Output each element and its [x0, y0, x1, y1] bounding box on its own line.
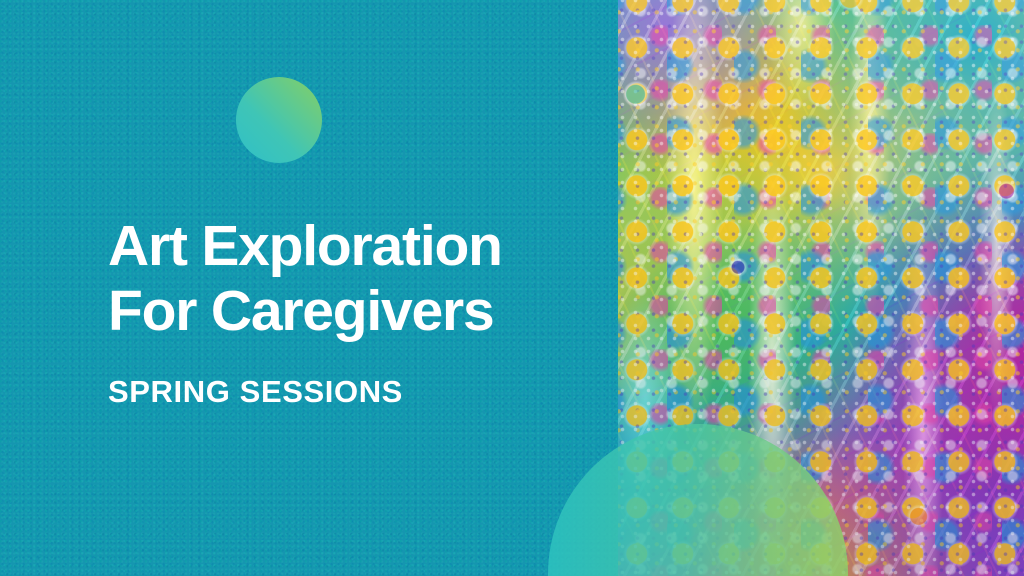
text-block: Art Exploration For Caregivers SPRING SE…	[108, 214, 578, 410]
subtitle: SPRING SESSIONS	[108, 374, 578, 410]
decorative-circle-small	[236, 77, 322, 163]
page-title: Art Exploration For Caregivers	[108, 214, 578, 344]
promotional-slide: Art Exploration For Caregivers SPRING SE…	[0, 0, 1024, 576]
